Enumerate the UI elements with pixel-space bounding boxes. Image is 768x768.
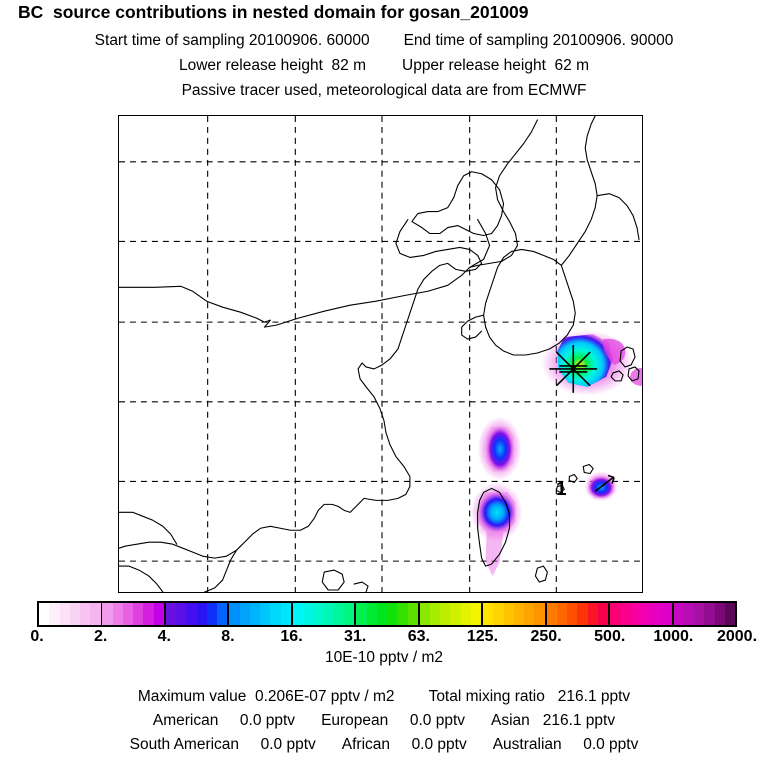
colorbar-step-7-5: [534, 603, 544, 625]
colorbar-step-7-3: [514, 603, 524, 625]
region-name-australian: Australian: [493, 736, 562, 753]
region-value-australian: 0.0 pptv: [583, 736, 638, 753]
colorbar-segment-8: [547, 603, 610, 625]
colorbar-tick-0: 0.: [30, 628, 43, 646]
plume-speck-se: [630, 368, 642, 386]
colorbar-step-2-5: [217, 603, 227, 625]
map-panel: 1: [118, 115, 643, 593]
colorbar-tick-11: 2000.: [717, 628, 757, 646]
colorbar-segment-3: [229, 603, 292, 625]
colorbar-segment-1: [102, 603, 165, 625]
colorbar-step-4-0: [293, 603, 303, 625]
region-name-south-american: South American: [130, 736, 239, 753]
colorbar-step-10-3: [704, 603, 714, 625]
total-ratio-value: 216.1 pptv: [558, 688, 630, 705]
start-time-label: Start time of sampling: [95, 32, 245, 49]
colorbar-step-1-2: [123, 603, 133, 625]
colorbar-step-0-0: [39, 603, 49, 625]
colorbar-step-3-1: [240, 603, 250, 625]
colorbar-tick-9: 500.: [594, 628, 625, 646]
colorbar-segment-4: [293, 603, 356, 625]
colorbar-step-2-1: [176, 603, 186, 625]
plume-taiwan-tail: [486, 532, 504, 576]
colorbar-step-0-5: [90, 603, 100, 625]
colorbar-step-2-3: [197, 603, 207, 625]
concentration-field: [471, 330, 642, 576]
colorbar-tick-2: 4.: [158, 628, 171, 646]
colorbar-step-4-4: [334, 603, 344, 625]
colorbar-step-8-0: [547, 603, 557, 625]
colorbar-unit-label: 10E-10 pptv / m2: [0, 649, 768, 667]
colorbar-step-3-4: [270, 603, 280, 625]
colorbar-step-3-0: [229, 603, 239, 625]
colorbar-step-1-1: [113, 603, 123, 625]
colorbar-step-8-2: [567, 603, 577, 625]
upper-release-value: 62 m: [555, 57, 589, 74]
colorbar-step-0-2: [60, 603, 70, 625]
colorbar-step-5-5: [408, 603, 418, 625]
colorbar-segment-0: [39, 603, 102, 625]
colorbar-step-1-4: [143, 603, 153, 625]
colorbar-step-3-3: [260, 603, 270, 625]
end-time-value: 20100906. 90000: [553, 32, 674, 49]
region-value-american: 0.0 pptv: [240, 712, 295, 729]
colorbar-tick-5: 31.: [344, 628, 366, 646]
map-canvas: [119, 116, 642, 592]
colorbar-step-5-3: [387, 603, 397, 625]
release-site-star: [549, 345, 597, 393]
colorbar-tick-8: 250.: [531, 628, 562, 646]
tracer-note: Passive tracer used, meteorological data…: [0, 82, 768, 100]
colorbar: [37, 601, 737, 627]
colorbar-segment-9: [610, 603, 673, 625]
colorbar-segment-6: [420, 603, 483, 625]
colorbar-step-6-4: [461, 603, 471, 625]
total-ratio-label: Total mixing ratio: [429, 688, 545, 705]
plot-root: BC source contributions in nested domain…: [0, 0, 768, 768]
colorbar-step-4-1: [303, 603, 313, 625]
upper-release-label: Upper release height: [402, 57, 546, 74]
colorbar-step-10-1: [684, 603, 694, 625]
colorbar-step-1-5: [154, 603, 164, 625]
footer-region-row-2: South American 0.0 pptvAfrican 0.0 pptvA…: [0, 736, 768, 754]
colorbar-step-8-1: [557, 603, 567, 625]
colorbar-segment-2: [166, 603, 229, 625]
colorbar-tick-7: 125.: [467, 628, 498, 646]
colorbar-step-9-3: [641, 603, 651, 625]
region-value-african: 0.0 pptv: [412, 736, 467, 753]
release-height-line: Lower release height 82 mUpper release h…: [0, 57, 768, 75]
colorbar-section: 0.2.4.8.16.31.63.125.250.500.1000.2000. …: [0, 601, 768, 667]
region-value-asian: 216.1 pptv: [543, 712, 615, 729]
colorbar-step-5-4: [397, 603, 407, 625]
plume-mid: [487, 427, 514, 472]
region-name-european: European: [321, 712, 388, 729]
colorbar-tick-3: 8.: [221, 628, 234, 646]
region-name-asian: Asian: [491, 712, 530, 729]
colorbar-step-10-5: [725, 603, 735, 625]
sampling-time-line: Start time of sampling 20100906. 60000En…: [0, 32, 768, 50]
colorbar-step-4-3: [324, 603, 334, 625]
colorbar-step-9-0: [610, 603, 620, 625]
colorbar-step-7-4: [524, 603, 534, 625]
end-time-label: End time of sampling: [404, 32, 549, 49]
colorbar-step-0-4: [80, 603, 90, 625]
colorbar-step-5-1: [367, 603, 377, 625]
colorbar-segment-10: [674, 603, 735, 625]
start-time-value: 20100906. 60000: [249, 32, 370, 49]
colorbar-step-0-1: [49, 603, 59, 625]
colorbar-tick-4: 16.: [280, 628, 302, 646]
colorbar-step-8-4: [588, 603, 598, 625]
colorbar-tick-6: 63.: [408, 628, 430, 646]
colorbar-segment-5: [356, 603, 419, 625]
colorbar-step-8-3: [577, 603, 587, 625]
map-region-label-1: 1: [556, 480, 567, 499]
colorbar-tick-labels: 0.2.4.8.16.31.63.125.250.500.1000.2000.: [0, 628, 768, 648]
page-title: BC source contributions in nested domain…: [18, 2, 768, 23]
footer-region-row-1: American 0.0 pptvEuropean 0.0 pptvAsian …: [0, 712, 768, 730]
colorbar-step-6-3: [450, 603, 460, 625]
colorbar-step-9-4: [651, 603, 661, 625]
colorbar-step-5-2: [377, 603, 387, 625]
colorbar-step-6-2: [440, 603, 450, 625]
colorbar-step-10-4: [715, 603, 725, 625]
colorbar-step-2-0: [166, 603, 176, 625]
colorbar-step-2-4: [207, 603, 217, 625]
colorbar-step-6-1: [430, 603, 440, 625]
region-name-american: American: [153, 712, 218, 729]
colorbar-step-4-5: [344, 603, 354, 625]
footer-max-line: Maximum value 0.206E-07 pptv / m2Total m…: [0, 688, 768, 706]
colorbar-step-0-3: [70, 603, 80, 625]
region-value-south-american: 0.0 pptv: [261, 736, 316, 753]
lower-release-label: Lower release height: [179, 57, 323, 74]
max-value-value: 0.206E-07 pptv / m2: [255, 688, 395, 705]
colorbar-step-1-0: [102, 603, 112, 625]
colorbar-step-9-5: [661, 603, 671, 625]
colorbar-step-3-5: [281, 603, 291, 625]
colorbar-step-10-0: [674, 603, 684, 625]
colorbar-step-5-0: [356, 603, 366, 625]
region-name-african: African: [342, 736, 390, 753]
colorbar-step-6-5: [471, 603, 481, 625]
colorbar-step-9-1: [620, 603, 630, 625]
max-value-label: Maximum value: [138, 688, 247, 705]
colorbar-segment-7: [483, 603, 546, 625]
colorbar-step-8-5: [598, 603, 608, 625]
colorbar-step-4-2: [313, 603, 323, 625]
colorbar-step-3-2: [250, 603, 260, 625]
region-value-european: 0.0 pptv: [410, 712, 465, 729]
colorbar-step-6-0: [420, 603, 430, 625]
colorbar-step-1-3: [133, 603, 143, 625]
colorbar-step-2-2: [186, 603, 196, 625]
lower-release-value: 82 m: [332, 57, 366, 74]
colorbar-step-7-2: [504, 603, 514, 625]
colorbar-tick-10: 1000.: [653, 628, 693, 646]
colorbar-tick-1: 2.: [94, 628, 107, 646]
colorbar-step-9-2: [631, 603, 641, 625]
colorbar-step-10-2: [694, 603, 704, 625]
colorbar-step-7-0: [483, 603, 493, 625]
colorbar-step-7-1: [493, 603, 503, 625]
